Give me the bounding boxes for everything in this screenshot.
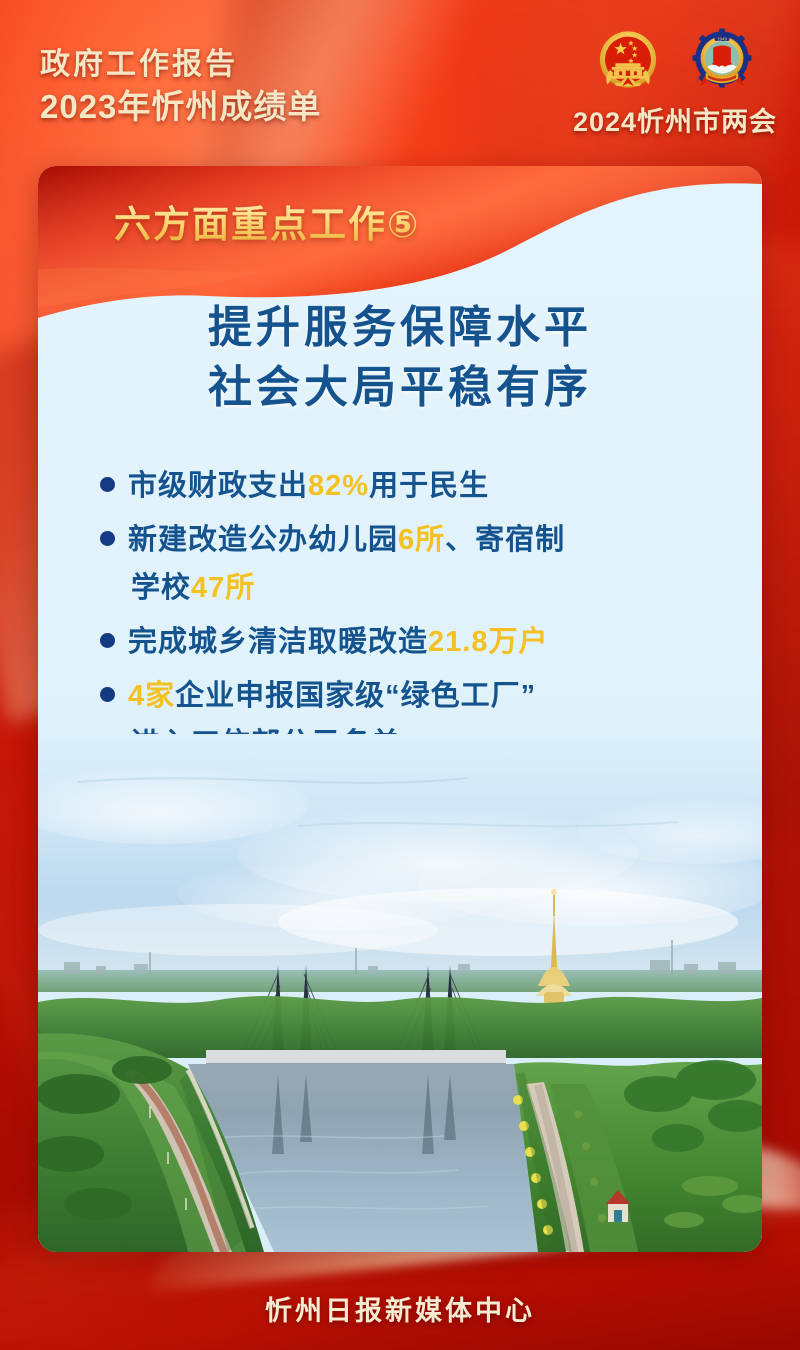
national-emblem-icon — [591, 24, 665, 98]
bullet-highlight-value: 82% — [308, 470, 369, 502]
bullet-highlight-value: 6所 — [398, 524, 445, 556]
bullet-text-segment: 市级财政支出 — [128, 470, 308, 502]
bullet-dot-icon — [100, 477, 115, 492]
achievement-bullet-list: 市级财政支出82%用于民生新建改造公办幼儿园6所、寄宿制学校47所完成城乡清洁取… — [100, 462, 716, 774]
header-title-block: 政府工作报告 2023年忻州成绩单 — [40, 46, 321, 128]
cppcc-emblem-icon: 1949 — [685, 24, 759, 98]
footer-credit: 忻州日报新媒体中心 — [0, 1289, 800, 1328]
bullet-highlight-value: 21.8万户 — [428, 626, 548, 658]
bullet-text: 市级财政支出82%用于民生 — [128, 462, 489, 510]
header-title-line1: 政府工作报告 — [40, 46, 321, 84]
svg-text:1949: 1949 — [717, 36, 727, 41]
bullet-line: 市级财政支出82%用于民生 — [128, 462, 489, 510]
content-card: 六方面重点工作⑤ 提升服务保障水平 社会大局平稳有序 市级财政支出82%用于民生… — [38, 166, 762, 1252]
bullet-text-segment: 企业申报国家级“绿色工厂” — [175, 680, 536, 712]
bullet-line: 学校47所 — [128, 564, 565, 612]
headline-line-1: 提升服务保障水平 — [38, 298, 762, 358]
card-headline: 提升服务保障水平 社会大局平稳有序 — [38, 298, 762, 418]
poster-root: 政府工作报告 2023年忻州成绩单 — [0, 0, 800, 1350]
meeting-label: 2024忻州市两会 — [573, 100, 777, 139]
bullet-text-segment: 完成城乡清洁取暖改造 — [128, 626, 428, 658]
bullet-item: 新建改造公办幼儿园6所、寄宿制学校47所 — [100, 516, 716, 612]
bullet-text-segment: 、寄宿制 — [445, 524, 565, 556]
emblem-row: 1949 — [591, 24, 759, 98]
bullet-dot-icon — [100, 531, 115, 546]
bullet-line: 完成城乡清洁取暖改造21.8万户 — [128, 618, 548, 666]
headline-line-2: 社会大局平稳有序 — [38, 358, 762, 418]
header-emblem-block: 1949 2024忻州市两会 — [570, 24, 780, 139]
section-badge: 六方面重点工作⑤ — [114, 194, 420, 248]
bullet-dot-icon — [100, 633, 115, 648]
city-river-bridge-aerial-photo — [38, 734, 762, 1252]
bullet-dot-icon — [100, 687, 115, 702]
poster-header: 政府工作报告 2023年忻州成绩单 — [0, 0, 800, 160]
bullet-text: 完成城乡清洁取暖改造21.8万户 — [128, 618, 548, 666]
bullet-highlight-value: 47所 — [191, 572, 255, 604]
bullet-line: 4家企业申报国家级“绿色工厂” — [128, 672, 536, 720]
bullet-text-segment: 新建改造公办幼儿园 — [128, 524, 398, 556]
bullet-line: 新建改造公办幼儿园6所、寄宿制 — [128, 516, 565, 564]
header-title-line2: 2023年忻州成绩单 — [40, 86, 321, 128]
bullet-text: 新建改造公办幼儿园6所、寄宿制学校47所 — [128, 516, 565, 612]
bullet-text-segment: 学校 — [131, 572, 191, 604]
bullet-text-segment: 用于民生 — [369, 470, 489, 502]
bullet-item: 完成城乡清洁取暖改造21.8万户 — [100, 618, 716, 666]
bullet-highlight-value: 4家 — [128, 680, 175, 712]
bullet-item: 市级财政支出82%用于民生 — [100, 462, 716, 510]
